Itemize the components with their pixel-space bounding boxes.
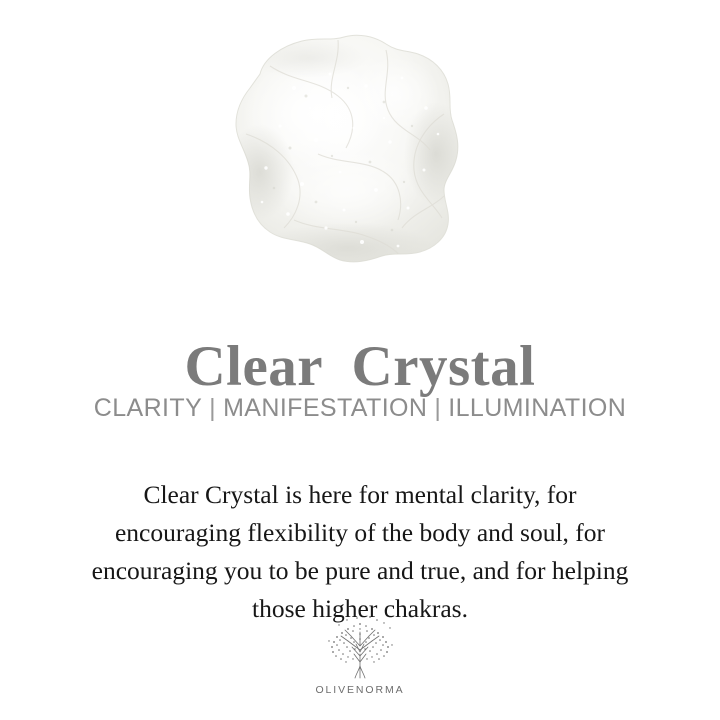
keyword-illumination: ILLUMINATION bbox=[448, 394, 626, 422]
olive-tree-icon bbox=[317, 614, 403, 682]
keyword-separator: | bbox=[427, 394, 448, 422]
description-line: encouraging you to be pure and true, and… bbox=[42, 552, 678, 590]
keyword-list: CLARITY|MANIFESTATION|ILLUMINATION bbox=[0, 392, 720, 424]
description-text: Clear Crystal is here for mental clarity… bbox=[42, 476, 678, 628]
keyword-clarity: CLARITY bbox=[94, 394, 202, 422]
brand-logo: OLIVENORMA bbox=[0, 614, 720, 696]
keyword-separator: | bbox=[202, 394, 223, 422]
page-title: Clear Crystal bbox=[0, 336, 720, 398]
description-line: encouraging flexibility of the body and … bbox=[42, 514, 678, 552]
product-image-area bbox=[0, 0, 720, 290]
description-line: Clear Crystal is here for mental clarity… bbox=[42, 476, 678, 514]
clear-crystal-image bbox=[198, 22, 488, 284]
brand-name: OLIVENORMA bbox=[0, 684, 720, 696]
keyword-manifestation: MANIFESTATION bbox=[223, 394, 427, 422]
product-info-card: Clear Crystal CLARITY|MANIFESTATION|ILLU… bbox=[0, 0, 720, 720]
